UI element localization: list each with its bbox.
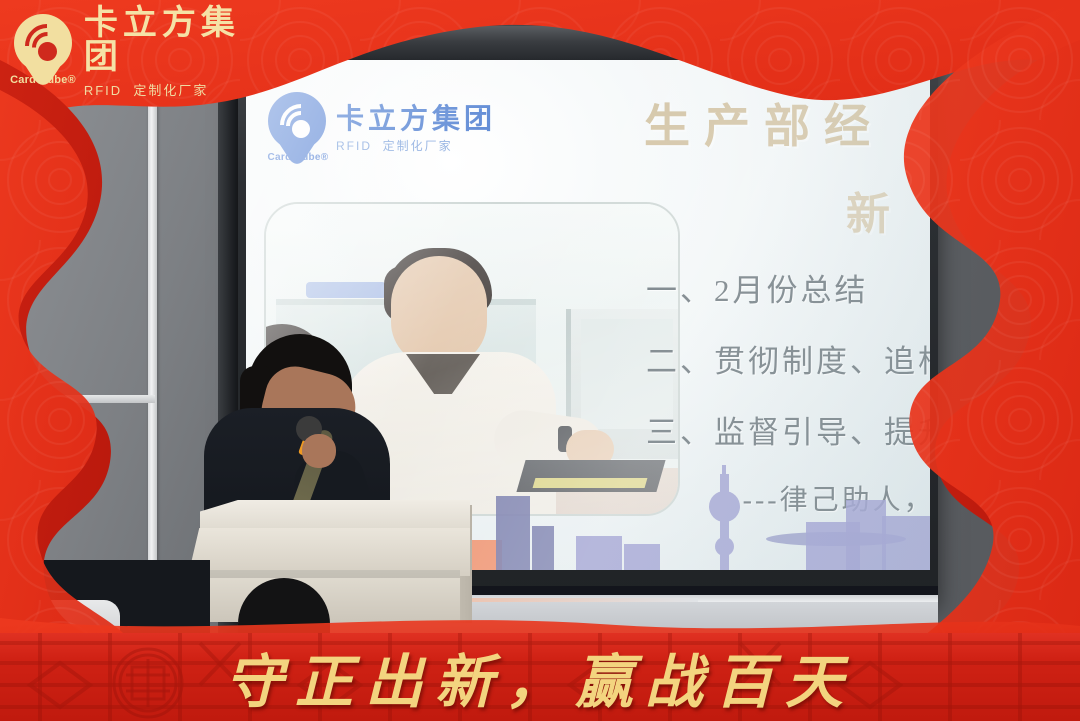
slide-logo-wordmark: Card Cube® bbox=[266, 152, 330, 163]
slide-logo-tagline: RFID 定制化厂家 bbox=[336, 137, 496, 154]
slide-bullet-2: 二、贯彻制度、追根 bbox=[646, 336, 930, 381]
slide-bullet-1: 一、2月份总结 bbox=[646, 265, 930, 310]
conference-photo: Card Cube® 卡立方集团 RFID 定制化厂家 bbox=[0, 0, 1080, 721]
projection-screen-bezel bbox=[238, 26, 938, 60]
wall-trim-vertical bbox=[148, 95, 157, 640]
slogan-banner: 守正出新，赢战百天 bbox=[0, 633, 1080, 721]
wall-trim-horizontal bbox=[0, 395, 155, 403]
poster-canvas: Card Cube® 卡立方集团 RFID 定制化厂家 bbox=[0, 0, 1080, 721]
wall-trim-top bbox=[30, 92, 155, 99]
slide-logo-name-cn: 卡立方集团 bbox=[336, 104, 496, 135]
slide-brand-logo: Card Cube® 卡立方集团 RFID 定制化厂家 bbox=[268, 92, 496, 166]
lectern-body bbox=[188, 528, 470, 576]
slide-title-line2: 新 bbox=[846, 178, 902, 242]
slide-title: 生产部经 bbox=[644, 90, 930, 156]
card-cube-pin-wifi-icon: Card Cube® bbox=[268, 92, 326, 166]
slide-bullet-3: 三、监督引导、提升品质 bbox=[646, 407, 930, 452]
slide-logo-text: 卡立方集团 RFID 定制化厂家 bbox=[336, 104, 496, 155]
slogan-text: 守正出新，赢战百天 bbox=[0, 633, 1080, 721]
